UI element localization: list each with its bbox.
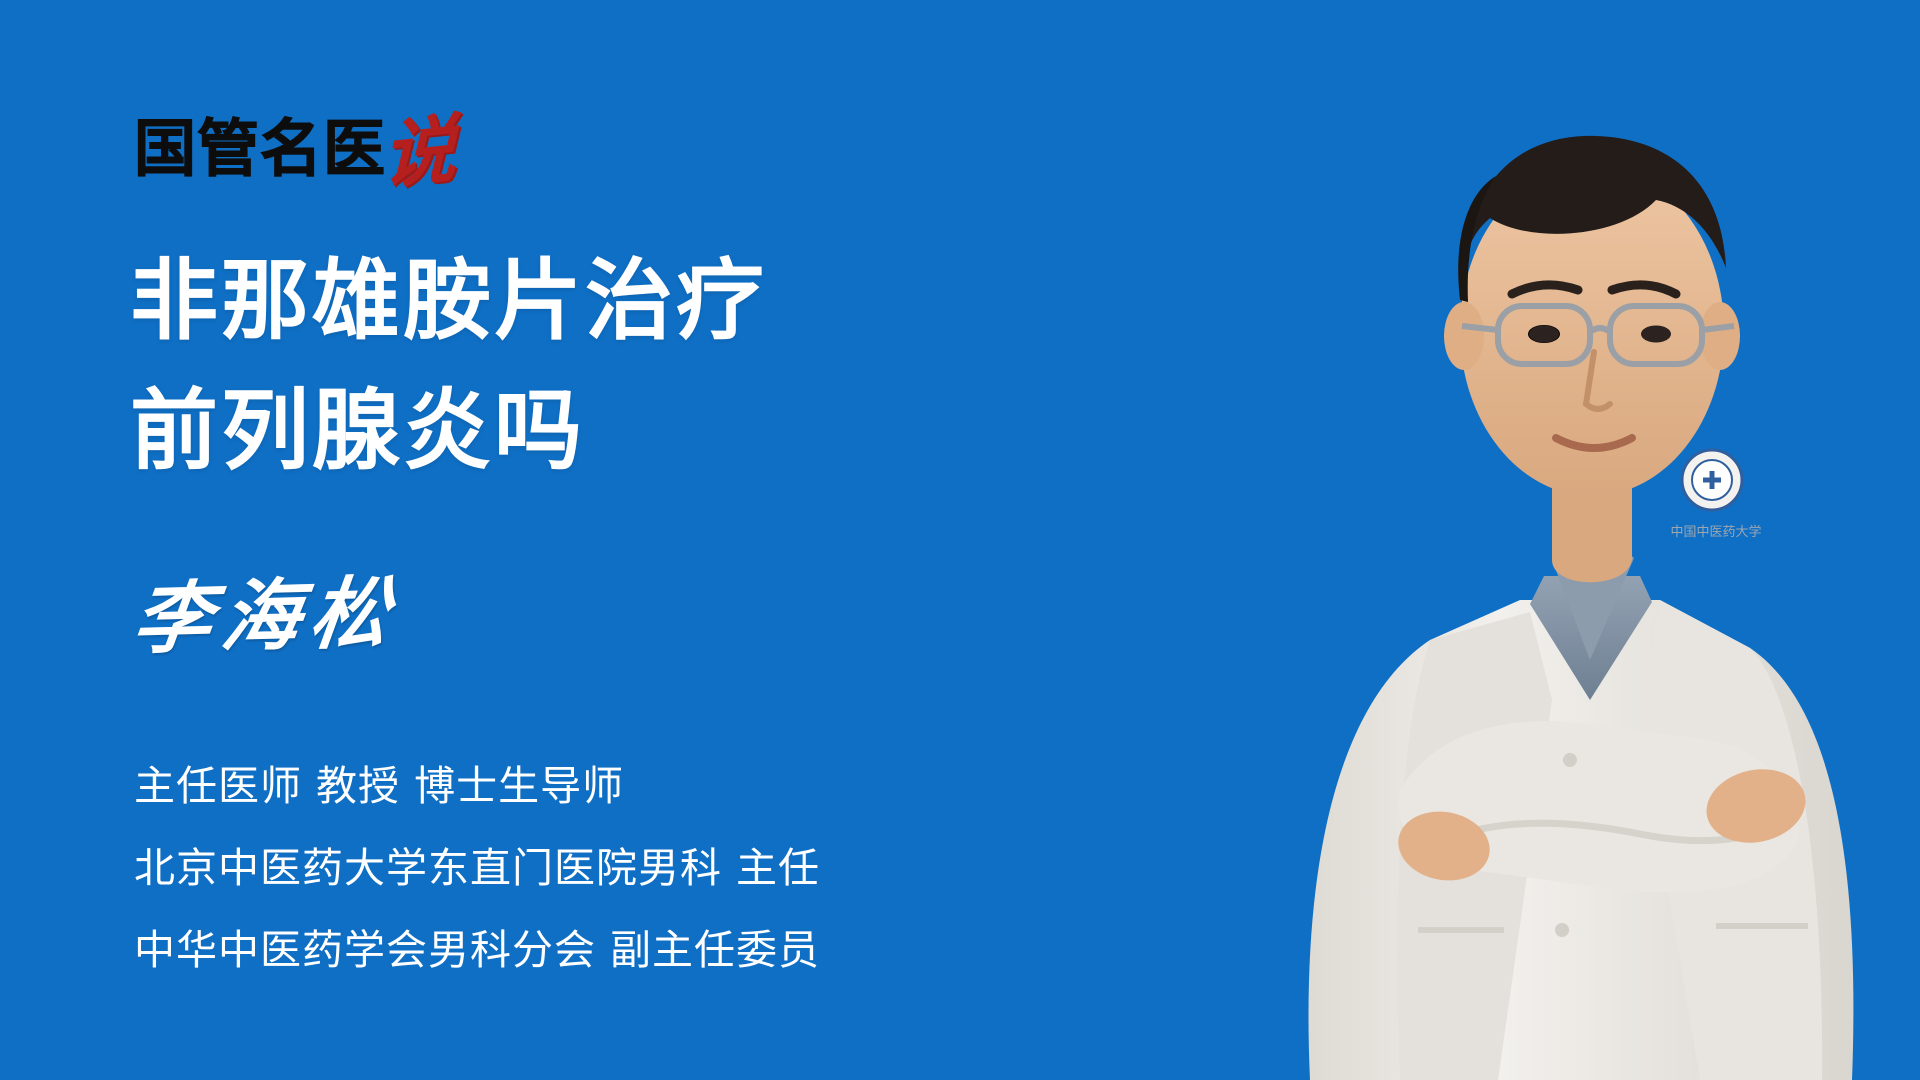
coat-button-2 bbox=[1555, 923, 1569, 937]
credential-line-2: 北京中医药大学东直门医院男科 主任 bbox=[134, 827, 820, 909]
brand-logo: 国管名医 说 bbox=[134, 96, 456, 180]
credential-line-1: 主任医师 教授 博士生导师 bbox=[134, 745, 820, 827]
brand-logo-text: 国管名医 bbox=[134, 118, 386, 180]
doctor-portrait-illustration: 中国中医药大学 bbox=[1100, 0, 1920, 1080]
doctor-portrait: 男性医生 白大褂 双臂交叉 眼镜 bbox=[1100, 0, 1920, 1080]
doctor-name: 李海松 bbox=[129, 575, 403, 660]
badge-text: 中国中医药大学 bbox=[1670, 524, 1761, 540]
doctor-credentials: 主任医师 教授 博士生导师 北京中医药大学东直门医院男科 主任 中华中医药学会男… bbox=[134, 745, 820, 991]
title-line-1: 非那雄胺片治疗 bbox=[130, 236, 767, 366]
title-card: 国管名医 说 非那雄胺片治疗 前列腺炎吗 李海松 主任医师 教授 博士生导师 北… bbox=[0, 0, 1920, 1080]
right-eye bbox=[1641, 326, 1671, 343]
right-ear bbox=[1700, 302, 1740, 370]
left-ear bbox=[1444, 302, 1484, 370]
title-line-2: 前列腺炎吗 bbox=[130, 366, 767, 496]
brand-logo-accent-character: 说 bbox=[382, 114, 456, 192]
hospital-badge bbox=[1682, 450, 1742, 510]
left-eye bbox=[1529, 326, 1559, 343]
coat-button-1 bbox=[1563, 753, 1577, 767]
credential-line-3: 中华中医药学会男科分会 副主任委员 bbox=[134, 909, 820, 991]
page-title: 非那雄胺片治疗 前列腺炎吗 bbox=[130, 236, 767, 496]
